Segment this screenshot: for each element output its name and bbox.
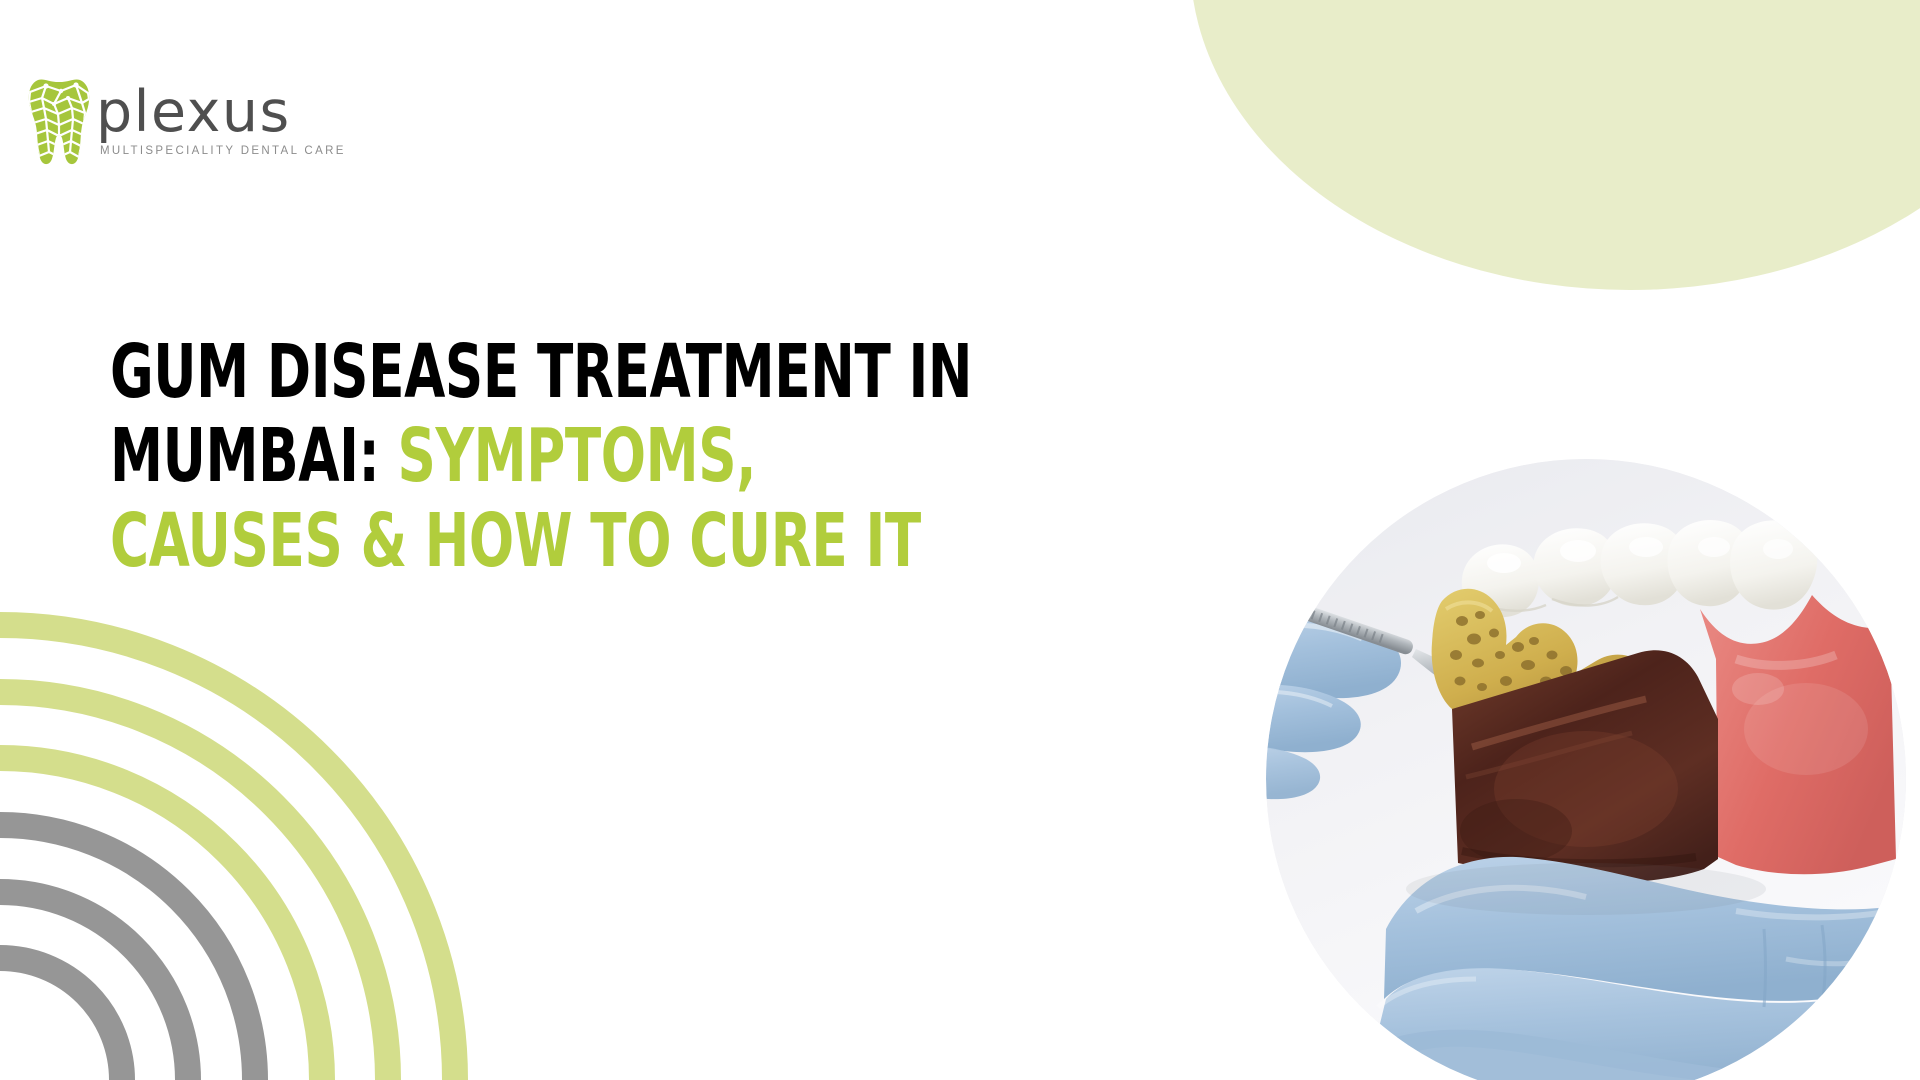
- brand-wordmark: plexus: [96, 86, 346, 138]
- arc-green-mid: [0, 692, 388, 1080]
- decorative-blob-top-right: [1190, 0, 1920, 290]
- decorative-concentric-arcs: [0, 600, 480, 1080]
- banner-root: plexus MULTISPECIALITY DENTAL CARE GUM D…: [0, 0, 1920, 1080]
- arc-gray-mid: [0, 892, 188, 1080]
- headline-line-2-green: SYMPTOMS,: [398, 413, 757, 499]
- arc-green-outer: [0, 625, 455, 1080]
- arc-gray-outer: [0, 825, 255, 1080]
- brand-tagline: MULTISPECIALITY DENTAL CARE: [96, 145, 346, 157]
- page-title: GUM DISEASE TREATMENT IN MUMBAI: SYMPTOM…: [110, 330, 1160, 583]
- arc-gray-inner: [0, 958, 122, 1080]
- headline-line-2: MUMBAI: SYMPTOMS,: [110, 414, 950, 498]
- headline-line-1: GUM DISEASE TREATMENT IN: [110, 330, 950, 414]
- brand-logo[interactable]: plexus MULTISPECIALITY DENTAL CARE: [28, 78, 346, 166]
- tooth-mesh-icon: [28, 78, 90, 166]
- hero-photo: [1266, 459, 1906, 1080]
- headline-line-2-black: MUMBAI:: [110, 413, 398, 499]
- headline-line-3: CAUSES & HOW TO CURE IT: [110, 499, 950, 583]
- arc-green-inner: [0, 758, 322, 1080]
- dental-model-illustration: [1266, 459, 1906, 1080]
- logo-text-block: plexus MULTISPECIALITY DENTAL CARE: [96, 78, 346, 157]
